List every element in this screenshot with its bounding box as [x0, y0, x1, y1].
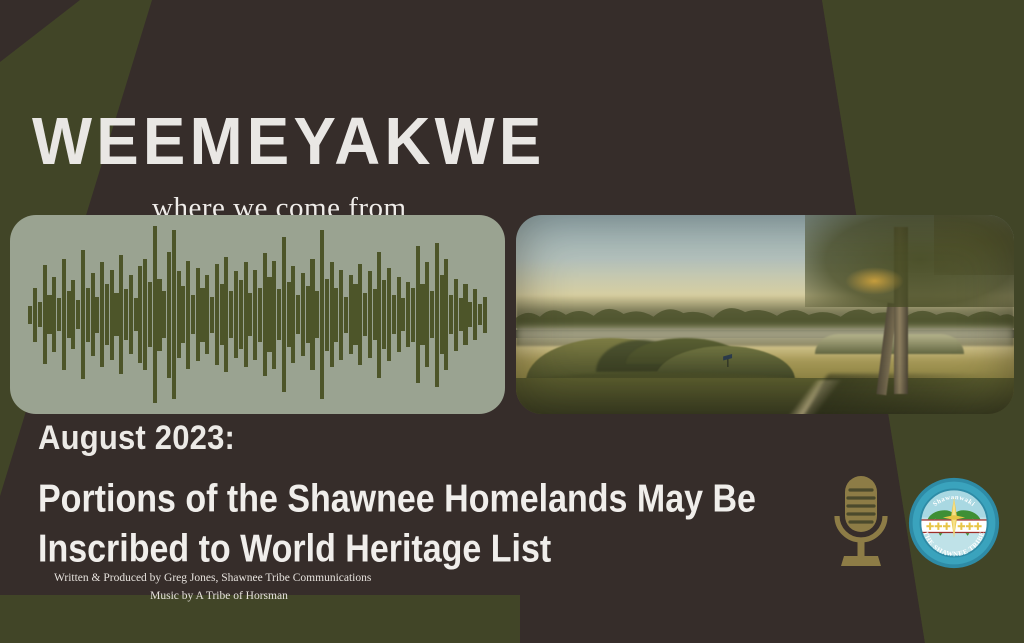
episode-date: August 2023:	[38, 420, 798, 456]
waveform-bar	[401, 298, 405, 330]
waveform-bar	[349, 275, 353, 354]
waveform-bar	[291, 266, 295, 363]
waveform-bar	[138, 266, 142, 363]
waveform-bar	[38, 302, 42, 327]
waveform-bar	[382, 280, 386, 348]
waveform-bar	[435, 243, 439, 387]
waveform-bar	[95, 297, 99, 333]
waveform-bar	[440, 275, 444, 354]
waveform-bar	[425, 262, 429, 366]
credit-music: Music by A Tribe of Horsman	[54, 588, 384, 606]
waveform-bar	[473, 289, 477, 339]
waveform-bar	[363, 293, 367, 336]
waveform-bar	[114, 293, 118, 336]
waveform-bar	[263, 253, 267, 375]
waveform-bar	[416, 246, 420, 383]
waveform-bar	[392, 295, 396, 335]
waveform-bar	[483, 297, 487, 333]
waveform-bar	[210, 297, 214, 333]
waveform-bar	[215, 264, 219, 365]
waveform-bar	[444, 259, 448, 371]
waveform-bar	[306, 286, 310, 344]
background-brown-corner-triangle	[0, 0, 90, 70]
waveform-bar	[143, 259, 147, 371]
waveform-bar	[33, 288, 37, 342]
waveform-bar	[368, 271, 372, 357]
waveform-bar	[287, 282, 291, 347]
show-title: WEEMEYAKWE	[32, 108, 774, 175]
title-block: WEEMEYAKWE where we come from	[32, 108, 732, 225]
headline-block: August 2023: Portions of the Shawnee Hom…	[38, 420, 798, 562]
waveform-bar	[325, 279, 329, 351]
waveform-bar	[57, 298, 61, 330]
waveform-bar	[220, 284, 224, 345]
waveform-bar	[430, 291, 434, 338]
waveform-bar	[244, 262, 248, 366]
waveform-bar	[353, 284, 357, 345]
waveform-bar	[148, 282, 152, 347]
waveform-bar	[411, 288, 415, 342]
waveform-bar	[81, 250, 85, 380]
waveform-bar	[52, 277, 56, 353]
waveform-bar	[296, 295, 300, 335]
waveform-bar	[387, 268, 391, 362]
waveform-bar	[110, 270, 114, 360]
waveform-bar	[315, 291, 319, 338]
waveform-bars	[10, 225, 505, 405]
waveform-bar	[196, 268, 200, 362]
waveform-bar	[43, 265, 47, 364]
waveform-bar	[397, 277, 401, 353]
waveform-bar	[76, 300, 80, 329]
waveform-bar	[86, 288, 90, 342]
waveform-bar	[277, 289, 281, 339]
credit-written-produced: Written & Produced by Greg Jones, Shawne…	[54, 570, 384, 588]
waveform-bar	[310, 259, 314, 371]
waveform-bar	[172, 230, 176, 399]
waveform-bar	[463, 284, 467, 345]
waveform-bar	[301, 273, 305, 356]
waveform-bar	[129, 275, 133, 354]
waveform-bar	[167, 252, 171, 378]
waveform-bar	[377, 252, 381, 378]
audio-waveform-panel[interactable]	[10, 215, 505, 414]
waveform-bar	[229, 291, 233, 338]
waveform-bar	[100, 262, 104, 366]
waveform-bar	[358, 264, 362, 365]
waveform-bar	[134, 298, 138, 330]
waveform-bar	[478, 304, 482, 326]
episode-headline: Portions of the Shawnee Homelands May Be…	[38, 475, 738, 574]
homelands-photo	[516, 215, 1014, 414]
waveform-bar	[62, 259, 66, 371]
headline-line-1: Portions of the Shawnee Homelands May Be	[38, 475, 738, 525]
waveform-bar	[454, 279, 458, 351]
waveform-bar	[105, 284, 109, 345]
waveform-bar	[282, 237, 286, 392]
waveform-bar	[239, 280, 243, 348]
waveform-bar	[177, 271, 181, 357]
waveform-bar	[186, 261, 190, 369]
waveform-bar	[420, 284, 424, 345]
waveform-bar	[28, 306, 32, 324]
media-row	[0, 215, 1024, 414]
waveform-bar	[253, 270, 257, 360]
waveform-bar	[330, 262, 334, 366]
waveform-bar	[320, 230, 324, 399]
waveform-bar	[181, 286, 185, 344]
waveform-bar	[334, 288, 338, 342]
vintage-microphone-icon	[828, 474, 894, 570]
waveform-bar	[339, 270, 343, 360]
shawnee-tribe-seal: Shawanwaki THE SHAWNEE TRIBE	[908, 477, 1000, 569]
waveform-bar	[248, 293, 252, 336]
waveform-bar	[258, 288, 262, 342]
waveform-bar	[234, 271, 238, 357]
headline-line-2: Inscribed to World Heritage List	[38, 524, 738, 574]
waveform-bar	[162, 291, 166, 338]
waveform-bar	[119, 255, 123, 374]
waveform-bar	[124, 289, 128, 339]
waveform-bar	[157, 279, 161, 351]
waveform-bar	[200, 288, 204, 342]
waveform-bar	[191, 295, 195, 335]
waveform-bar	[468, 302, 472, 327]
waveform-bar	[406, 282, 410, 347]
waveform-bar	[91, 273, 95, 356]
waveform-bar	[459, 298, 463, 330]
photo-vignette	[516, 215, 1014, 414]
waveform-bar	[224, 257, 228, 372]
waveform-bar	[71, 280, 75, 348]
credits-block: Written & Produced by Greg Jones, Shawne…	[54, 570, 384, 606]
waveform-bar	[344, 297, 348, 333]
waveform-bar	[449, 295, 453, 335]
waveform-bar	[205, 275, 209, 354]
waveform-bar	[267, 277, 271, 353]
waveform-bar	[47, 295, 51, 335]
waveform-bar	[373, 289, 377, 339]
waveform-bar	[153, 226, 157, 402]
waveform-bar	[272, 261, 276, 369]
waveform-bar	[67, 291, 71, 338]
